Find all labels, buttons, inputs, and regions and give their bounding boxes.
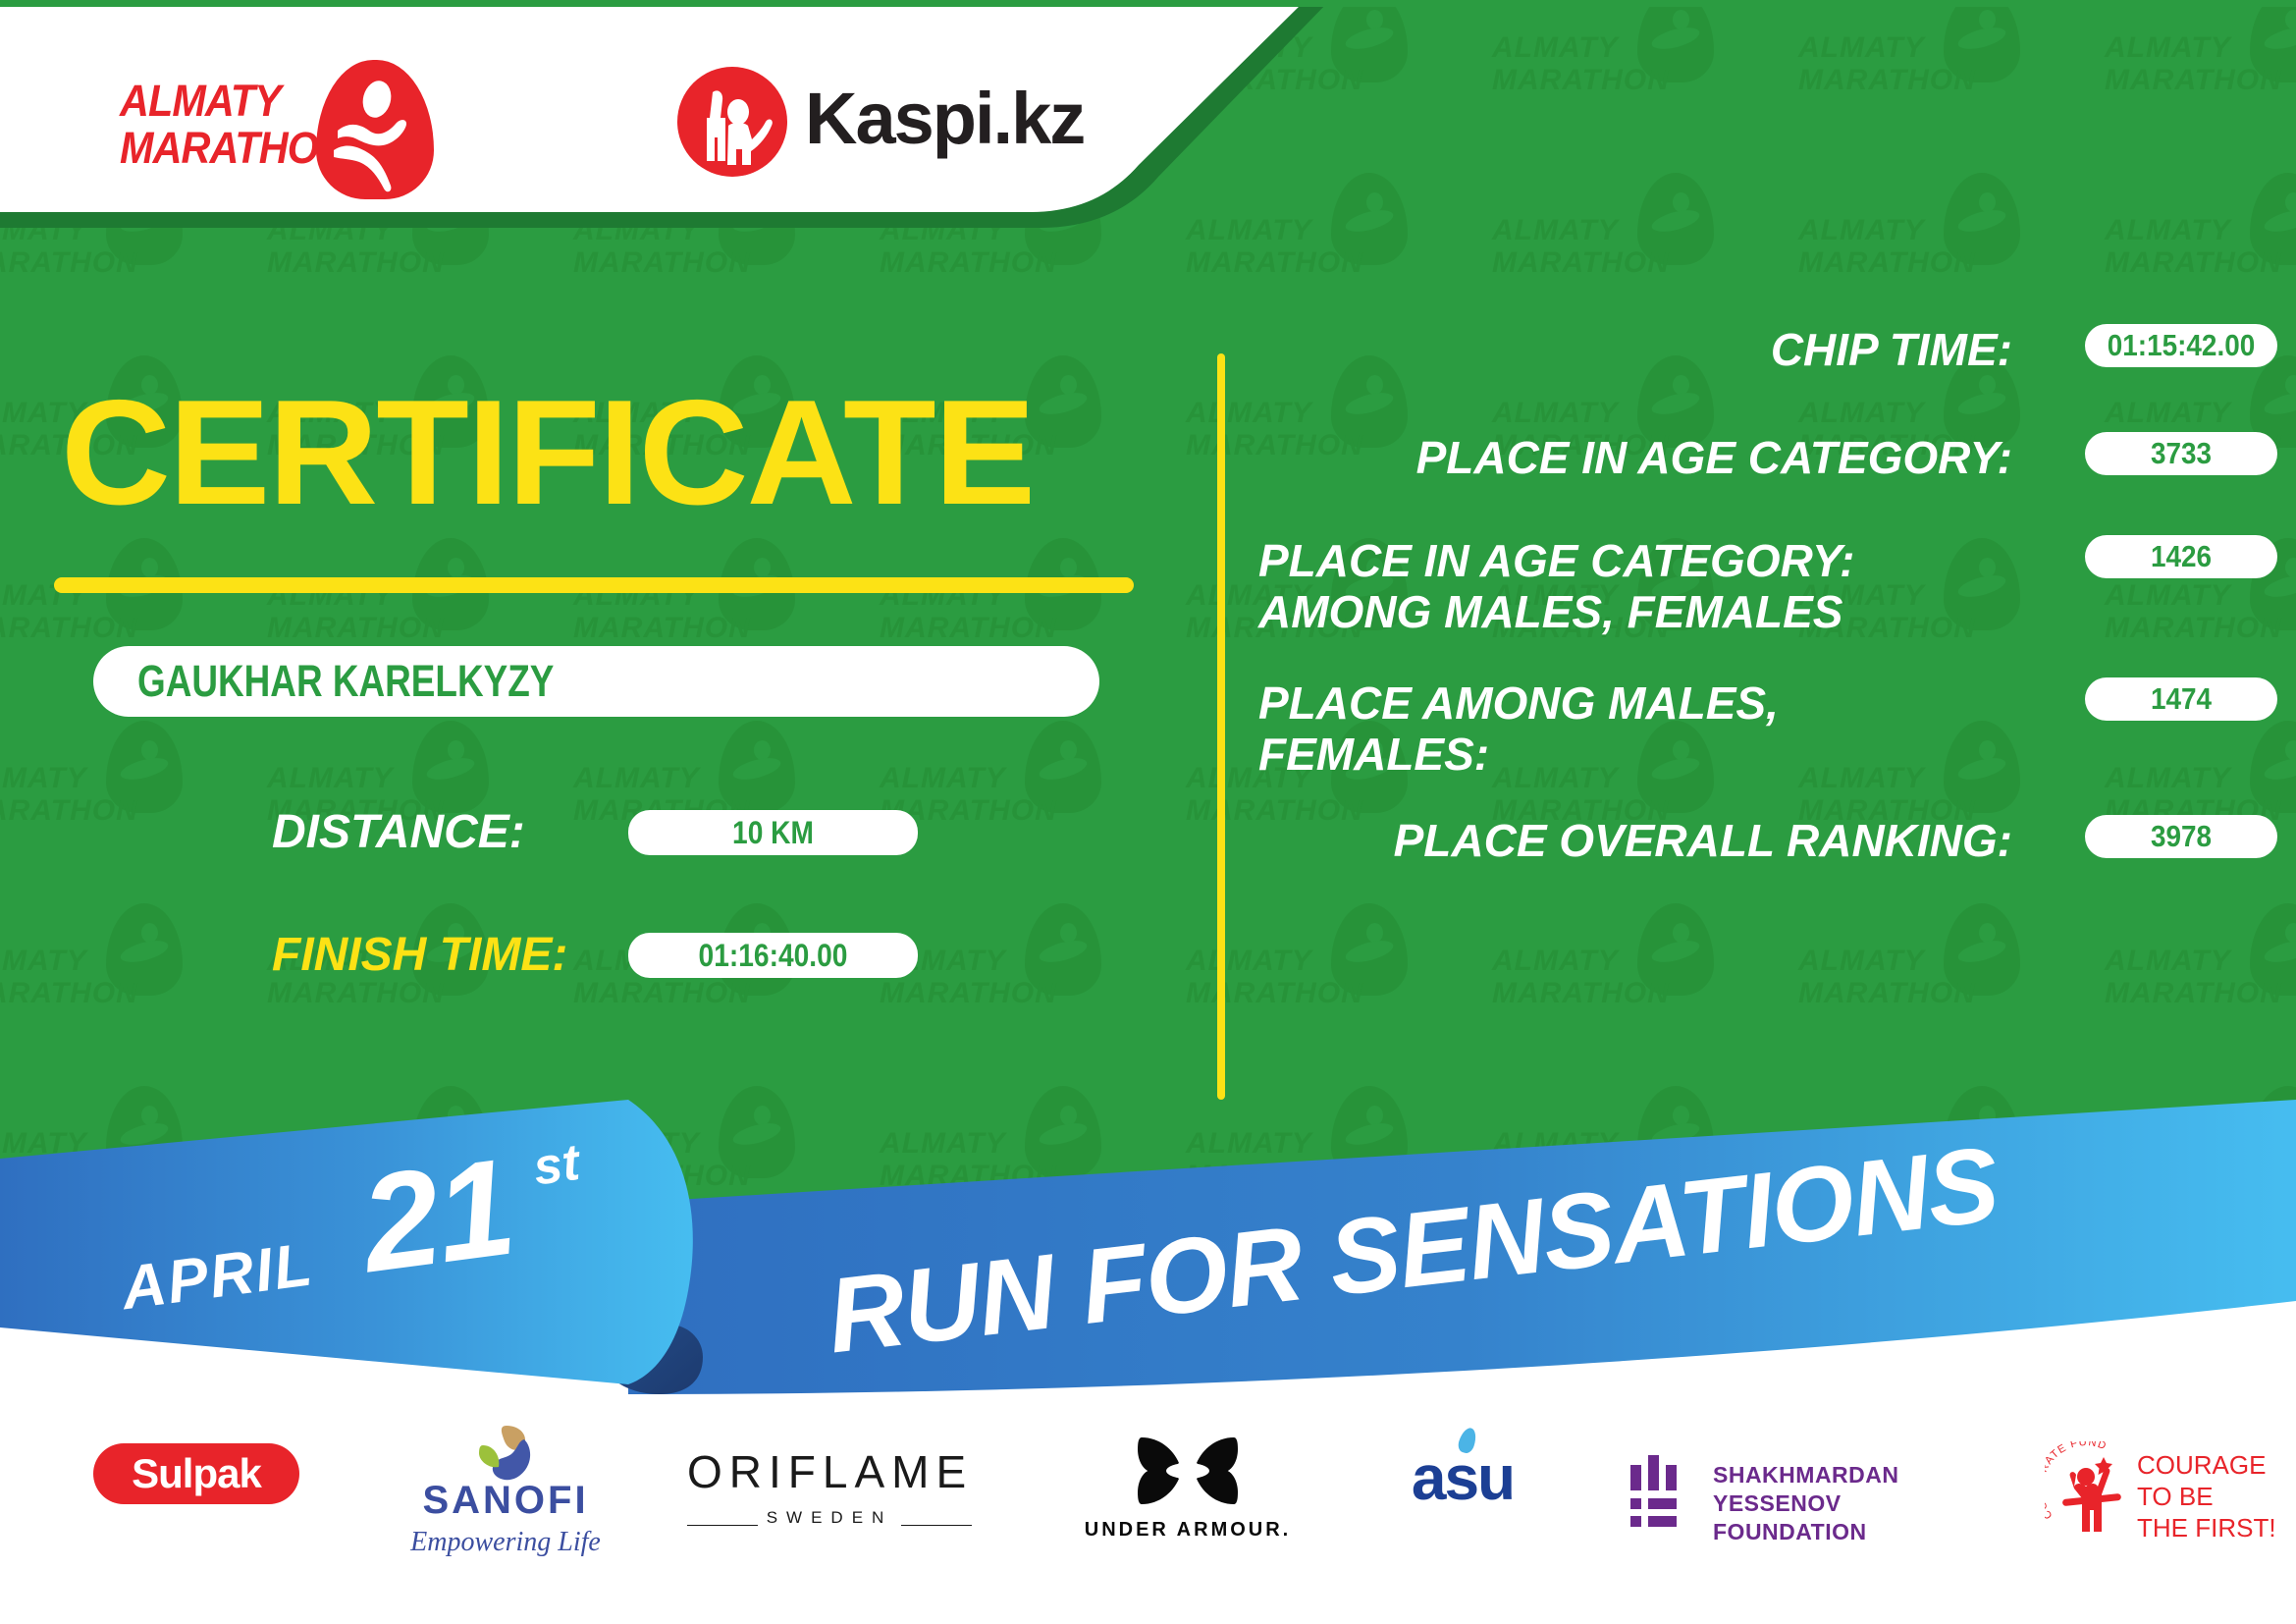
title-underline [54,577,1134,593]
watermark-tile: ALMATYMARATHON [1186,884,1470,1051]
sponsor-sulpak: Sulpak [93,1443,299,1504]
event-day-suffix: st [530,1133,583,1198]
stat-value-pill: 3978 [2085,815,2277,858]
sponsor-oriflame: ORIFLAME SWEDEN [687,1445,972,1602]
watermark-tile: ALMATYMARATHON [1798,153,2083,320]
athlete-name-value: GAUKHAR KARELKYZY [137,658,554,705]
finish-time-value-pill: 01:16:40.00 [628,933,918,978]
stat-value-pill: 3733 [2085,432,2277,475]
stat-value: 1474 [2095,677,2268,721]
stat-label: CHIP TIME: [1306,324,2012,375]
distance-value: 10 KM [646,810,901,855]
sponsor-shakhmardan-yessenov: SHAKHMARDAN YESSENOV FOUNDATION [1625,1439,1998,1597]
stat-label: PLACE AMONG MALES, FEMALES: [1258,677,1965,780]
courage-wordmark: COURAGE TO BE THE FIRST! [2137,1449,2276,1543]
oriflame-rule-left [687,1525,758,1526]
athlete-name-field: GAUKHAR KARELKYZY [93,646,1099,717]
stat-value: 3978 [2095,815,2268,858]
distance-value-pill: 10 KM [628,810,918,855]
asu-wordmark: asu [1412,1442,1514,1513]
sponsor-asu: asu [1369,1441,1556,1598]
stat-value: 01:15:42.00 [2095,324,2268,367]
watermark-tile: ALMATYMARATHON [1798,0,2083,137]
distance-label: DISTANCE: [272,805,525,859]
sanofi-mark-icon [463,1424,548,1483]
vertical-divider [1217,353,1225,1100]
sulpak-wordmark: Sulpak [93,1443,299,1504]
oriflame-rule-right [901,1525,972,1526]
sponsor-under-armour: UNDER ARMOUR. [1080,1432,1296,1589]
watermark-tile: ALMATYMARATHON [2105,0,2296,137]
courage-line-2: TO BE [2137,1481,2276,1512]
stat-label: PLACE IN AGE CATEGORY: [1306,432,2012,483]
event-month: APRIL [118,1229,318,1324]
sponsor-strip: Sulpak SANOFI Empowering Life ORIFLAME S… [0,1424,2296,1624]
under-armour-wordmark: UNDER ARMOUR. [1080,1519,1296,1542]
stat-value-pill: 1426 [2085,535,2277,578]
oriflame-wordmark: ORIFLAME [687,1445,972,1498]
stat-value: 1426 [2095,535,2268,578]
certificate-canvas: ALMATYMARATHONALMATYMARATHONALMATYMARATH… [0,0,2296,1624]
stat-value: 3733 [2095,432,2268,475]
sponsor-sanofi: SANOFI Empowering Life [393,1424,618,1581]
courage-line-3: THE FIRST! [2137,1512,2276,1543]
event-day: 21 [352,1127,521,1304]
watermark-tile: ALMATYMARATHON [1492,884,1777,1051]
finish-time-value: 01:16:40.00 [646,933,901,978]
watermark-tile: ALMATYMARATHON [2105,884,2296,1051]
stat-label: PLACE IN AGE CATEGORY: AMONG MALES, FEMA… [1258,535,1965,637]
event-ribbon: APRIL 21 st RUN FOR SENSATIONS [0,1100,2296,1424]
watermark-tile: ALMATYMARATHON [2105,153,2296,320]
asu-wordmark-wrap: asu [1369,1441,1556,1514]
courage-line-1: COURAGE [2137,1449,2276,1481]
yessenov-wordmark: SHAKHMARDAN YESSENOV FOUNDATION [1713,1461,1998,1546]
watermark-tile: ALMATYMARATHON [1798,884,2083,1051]
sanofi-tagline: Empowering Life [393,1527,618,1558]
stat-label: PLACE OVERALL RANKING: [1306,815,2012,866]
stat-value-pill: 1474 [2085,677,2277,721]
left-column: CERTIFICATE GAUKHAR KARELKYZY DISTANCE: … [0,0,1178,1267]
top-green-rule [0,0,2296,7]
yessenov-bars-icon [1627,1453,1697,1538]
under-armour-icon [1130,1432,1246,1510]
stat-value-pill: 01:15:42.00 [2085,324,2277,367]
sponsor-courage-to-be-the-first: CORPORATE FUND COURAGE TO BE THE FIRST! [2047,1435,2292,1593]
sanofi-wordmark: SANOFI [393,1479,618,1523]
page-title: CERTIFICATE [61,378,1034,527]
finish-time-label: FINISH TIME: [272,928,567,982]
courage-runner-icon: CORPORATE FUND [2045,1441,2139,1540]
